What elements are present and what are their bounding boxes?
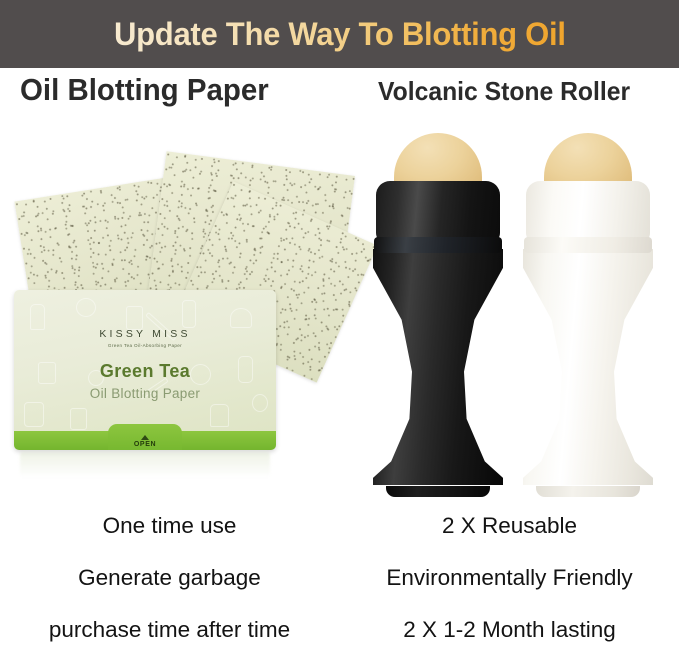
box-brand-name: KISSY MISS — [14, 328, 276, 340]
list-item: 2 X 1-2 Month lasting — [340, 617, 679, 643]
list-item: Generate garbage — [0, 565, 339, 591]
white-volcanic-stone-roller — [508, 133, 668, 497]
comparison-text-section: One time use Generate garbage purchase t… — [0, 505, 679, 651]
roller-body — [373, 249, 503, 485]
open-tab-label: OPEN — [134, 441, 156, 448]
roller-body — [523, 249, 653, 485]
oil-blotting-paper-product-image: KISSY MISS Green Tea Oil-Absorbing Paper… — [0, 125, 350, 505]
box-front-text: KISSY MISS Green Tea Oil-Absorbing Paper… — [14, 290, 276, 401]
left-column-heading: Oil Blotting Paper — [20, 72, 269, 108]
roller-ring — [524, 237, 652, 253]
list-item: Environmentally Friendly — [340, 565, 679, 591]
page-title: Update The Way To Blotting Oil — [114, 16, 566, 53]
list-item: One time use — [0, 513, 339, 539]
roller-foot — [536, 486, 640, 497]
column-headings: Oil Blotting Paper Volcanic Stone Roller — [0, 70, 679, 118]
volcanic-stone-roller-product-image — [350, 125, 679, 505]
black-volcanic-stone-roller — [358, 133, 518, 497]
roller-collar — [376, 181, 500, 243]
box-product-name: Green Tea — [14, 361, 276, 382]
roller-collar — [526, 181, 650, 243]
box-product-type: Oil Blotting Paper — [14, 386, 276, 401]
product-box: KISSY MISS Green Tea Oil-Absorbing Paper… — [14, 290, 276, 450]
roller-foot — [386, 486, 490, 497]
roller-ring — [374, 237, 502, 253]
list-item: 2 X Reusable — [340, 513, 679, 539]
right-column-heading: Volcanic Stone Roller — [378, 76, 630, 107]
up-triangle-icon — [141, 435, 149, 440]
box-brand-subtitle: Green Tea Oil-Absorbing Paper — [14, 343, 276, 348]
list-item: purchase time after time — [0, 617, 339, 643]
right-bullet-list: 2 X Reusable Environmentally Friendly 2 … — [340, 505, 679, 651]
header-banner: Update The Way To Blotting Oil — [0, 0, 679, 68]
box-open-tab: OPEN — [108, 424, 182, 450]
left-bullet-list: One time use Generate garbage purchase t… — [0, 505, 339, 651]
box-reflection — [20, 452, 270, 478]
